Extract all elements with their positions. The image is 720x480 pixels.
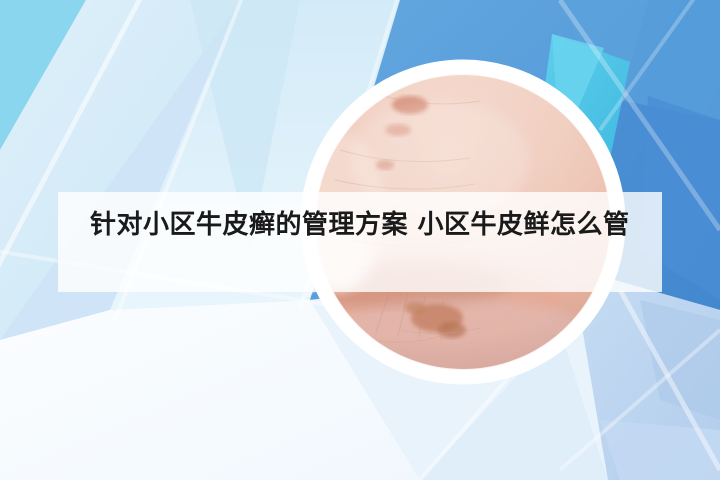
article-banner-image: 针对小区牛皮癣的管理方案 小区牛皮鲜怎么管	[0, 0, 720, 480]
title-overlay-box: 针对小区牛皮癣的管理方案 小区牛皮鲜怎么管	[58, 192, 662, 292]
lesion-patch-lower-c	[405, 302, 425, 314]
page-title: 针对小区牛皮癣的管理方案 小区牛皮鲜怎么管	[90, 206, 642, 245]
